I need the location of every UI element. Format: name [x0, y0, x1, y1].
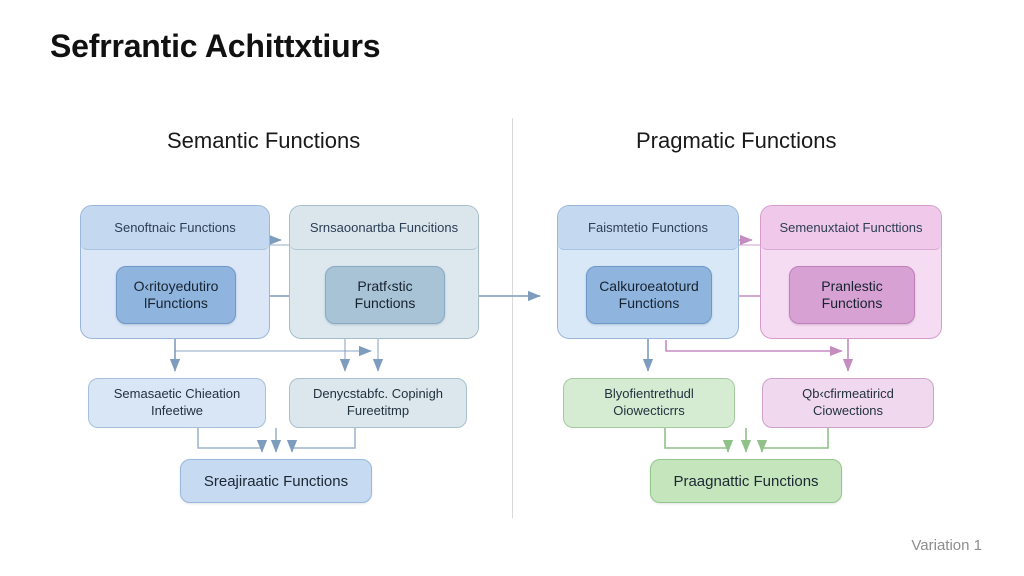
node-left-semantic-inner[interactable]: O‹ritoyedutiro lFunctions	[116, 266, 236, 324]
cluster-left-pragmatic-header: Srnsaoonartba Funcitions	[290, 206, 478, 250]
box-left-objective-pragmatic[interactable]: Denycstabfc. Copinigh Fureetitmp	[289, 378, 467, 428]
cluster-left-semantic[interactable]: Senoftnaic Functions O‹ritoyedutiro lFun…	[80, 205, 270, 339]
box-left-summary[interactable]: Sreajiraatic Functions	[180, 459, 372, 503]
box-right-summary[interactable]: Praagnattic Functions	[650, 459, 842, 503]
box-right-objective-behavioral[interactable]: Blyofientrethudl Oiowecticrrs	[563, 378, 735, 428]
node-right-pragmatic-inner[interactable]: Pranlestic Functions	[789, 266, 915, 324]
node-right-semantic-inner[interactable]: Calkuroeatoturd Functions	[586, 266, 712, 324]
cluster-right-semantic[interactable]: Faismtetio Functions Calkuroeatoturd Fun…	[557, 205, 739, 339]
cluster-right-pragmatic[interactable]: Semenuxtaiot Functtions Pranlestic Funct…	[760, 205, 942, 339]
cluster-left-pragmatic[interactable]: Srnsaoonartba Funcitions Pratf‹stic Func…	[289, 205, 479, 339]
cluster-right-semantic-header: Faismtetio Functions	[558, 206, 738, 250]
cluster-left-semantic-header: Senoftnaic Functions	[81, 206, 269, 250]
box-left-objective-semantic[interactable]: Semasaetic Chieation Infeetiwe	[88, 378, 266, 428]
box-right-objective-optimization[interactable]: Qb‹cfirmeatiricd Ciowections	[762, 378, 934, 428]
node-left-pragmatic-inner[interactable]: Pratf‹stic Functions	[325, 266, 445, 324]
cluster-right-pragmatic-header: Semenuxtaiot Functtions	[761, 206, 941, 250]
diagram-canvas: Sefrrantic Achittxtiurs Semantic Functio…	[0, 0, 1024, 576]
footer-caption: Variation 1	[911, 537, 982, 554]
